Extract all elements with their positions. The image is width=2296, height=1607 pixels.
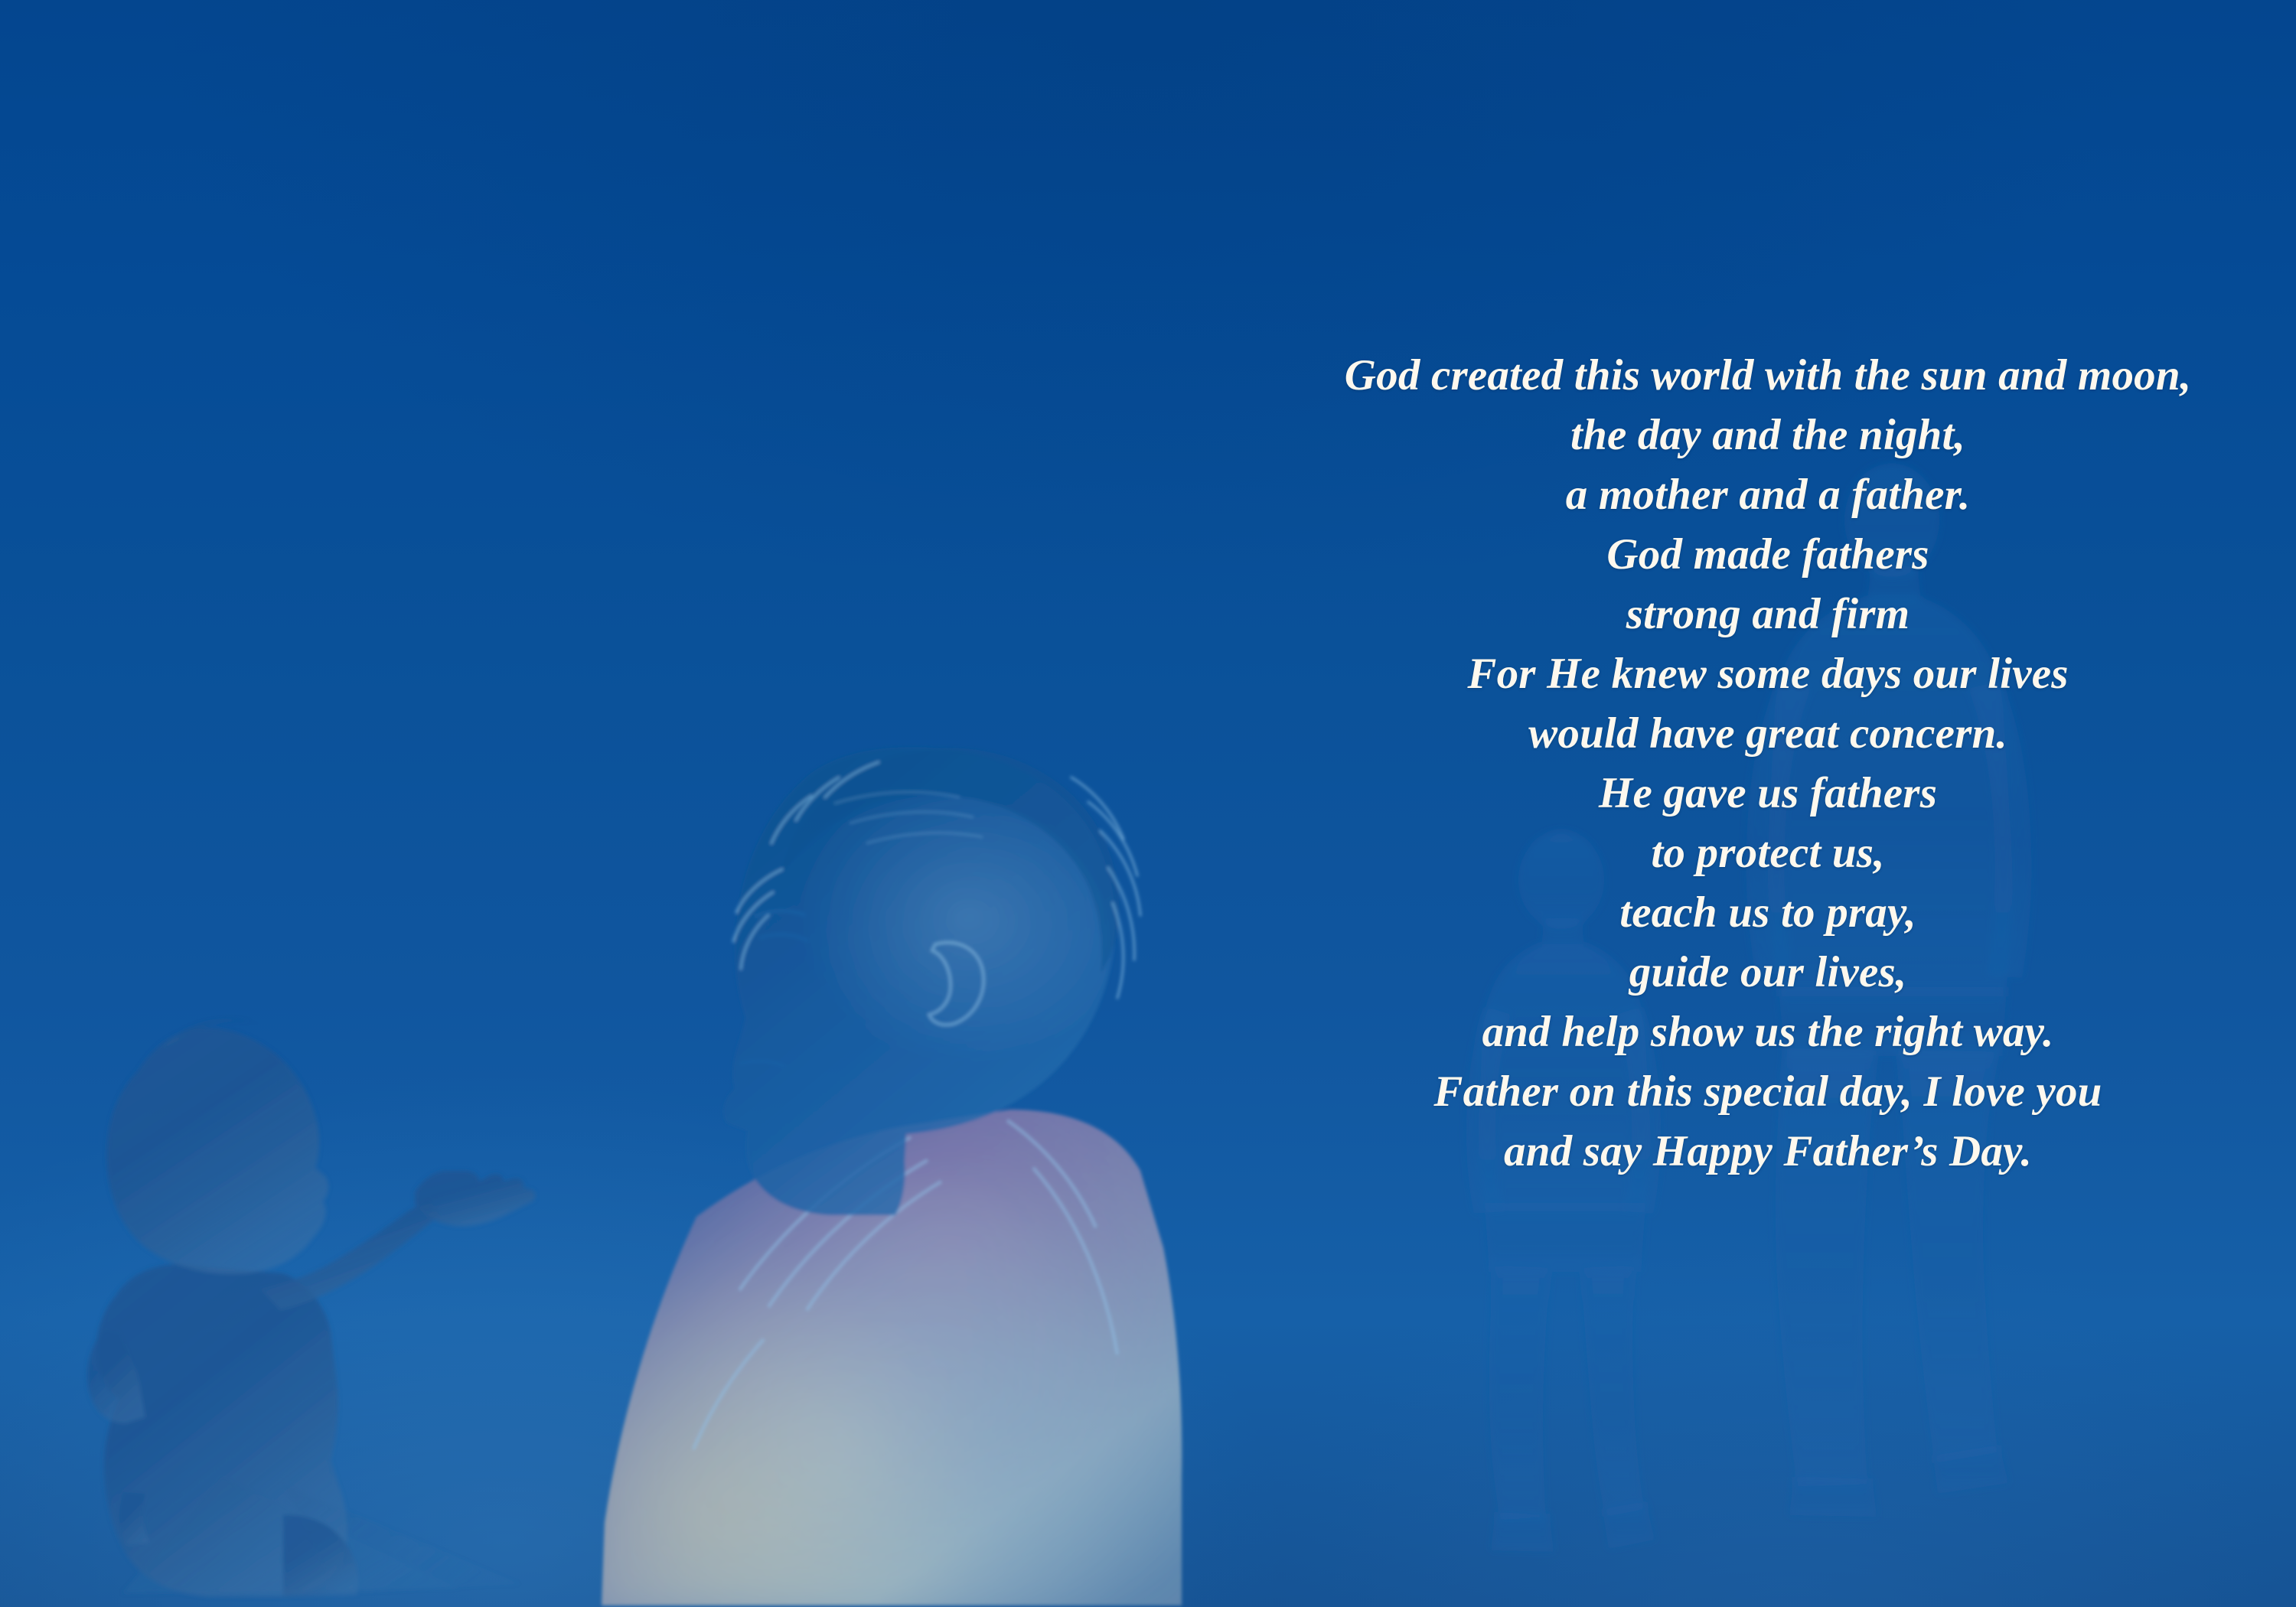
poem-line: to protect us,: [1270, 823, 2265, 883]
poem-line: God made fathers: [1270, 525, 2265, 585]
poem-line: would have great concern.: [1270, 704, 2265, 764]
poem-line: the day and the night,: [1270, 406, 2265, 465]
poem-line: and help show us the right way.: [1270, 1002, 2265, 1062]
poem-line: strong and firm: [1270, 585, 2265, 644]
poem-line: a mother and a father.: [1270, 465, 2265, 525]
poem-line: Father on this special day, I love you: [1270, 1062, 2265, 1122]
poem-line: and say Happy Father’s Day.: [1270, 1122, 2265, 1182]
poem-line: God created this world with the sun and …: [1270, 346, 2265, 406]
poem-line: teach us to pray,: [1270, 883, 2265, 943]
poem-line: guide our lives,: [1270, 943, 2265, 1002]
fathers-day-card: God created this world with the sun and …: [0, 0, 2296, 1607]
poem-line: He gave us fathers: [1270, 764, 2265, 823]
poem-text-block: God created this world with the sun and …: [1270, 346, 2265, 1182]
poem-line: For He knew some days our lives: [1270, 644, 2265, 704]
